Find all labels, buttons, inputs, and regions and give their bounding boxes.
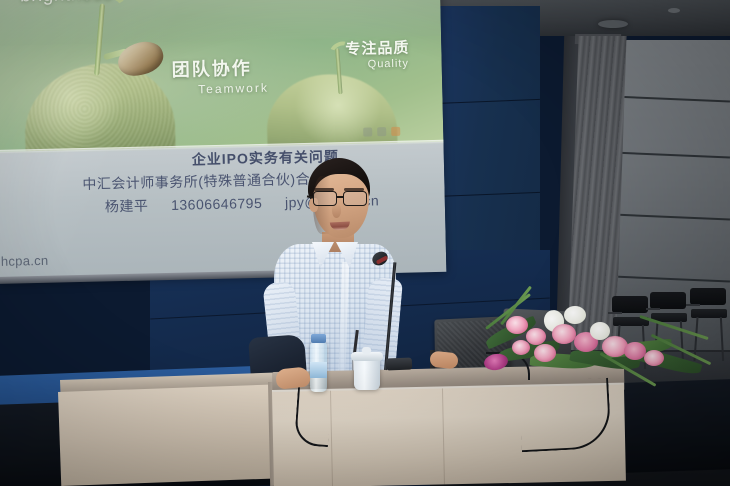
pillar-quality-en: Quality xyxy=(368,58,410,71)
wall-seam xyxy=(613,214,730,220)
pink-flower xyxy=(644,350,664,366)
eyeglasses-icon xyxy=(312,191,370,207)
pillar-teamwork-en: Teamwork xyxy=(198,81,269,97)
wall-seam xyxy=(432,99,540,104)
logo-mark-icon xyxy=(391,126,400,135)
ceiling-spotlight-icon xyxy=(668,8,680,13)
pink-flower xyxy=(534,344,556,362)
pillar-teamwork-cn: 团队协作 xyxy=(171,54,268,82)
glasses-lens xyxy=(343,191,367,206)
wall-seam xyxy=(613,152,730,158)
side-table-front xyxy=(58,384,289,486)
glasses-bridge xyxy=(337,196,344,198)
slide-pillar-quality: 专注品质 Quality xyxy=(345,37,410,71)
slide-pillar-teamwork: 团队协作 Teamwork xyxy=(171,54,269,97)
presentation-photo: brightness 团队协作 Teamwork 专注品质 Quality 企业… xyxy=(0,0,730,486)
wall-seam xyxy=(613,96,730,102)
logo-mark-icon xyxy=(377,127,386,136)
purple-flower xyxy=(483,352,509,372)
speaker-right-hand xyxy=(429,351,459,370)
speaker-left-hand xyxy=(275,366,311,389)
pink-flower xyxy=(512,340,530,355)
paper-cup xyxy=(354,358,380,390)
pink-flower xyxy=(506,316,528,334)
speaker-nose xyxy=(332,204,341,218)
cup-lid-knob xyxy=(362,347,371,354)
glasses-temple xyxy=(307,195,314,198)
pink-flower xyxy=(624,342,646,360)
wall-seam xyxy=(432,192,540,197)
slide-website: zhcpa.cn xyxy=(0,253,49,269)
presenter-phone: 13606646795 xyxy=(171,195,262,213)
slide-partner-logos xyxy=(363,122,433,140)
pillar-quality-cn: 专注品质 xyxy=(345,37,409,59)
fern-frond xyxy=(639,315,708,340)
bottle-cap xyxy=(311,334,326,343)
ceiling-vent-icon xyxy=(598,20,628,28)
podium-panel-seam xyxy=(442,388,445,484)
bottle-label xyxy=(310,362,327,378)
microphone-base xyxy=(386,358,412,371)
pink-flower xyxy=(526,328,546,345)
presenter-name: 杨建平 xyxy=(105,198,149,215)
pink-flower xyxy=(552,324,576,344)
wall-seam xyxy=(613,276,730,282)
logo-mark-icon xyxy=(363,127,372,136)
flower-arrangement xyxy=(478,296,718,392)
white-lily xyxy=(564,306,586,324)
